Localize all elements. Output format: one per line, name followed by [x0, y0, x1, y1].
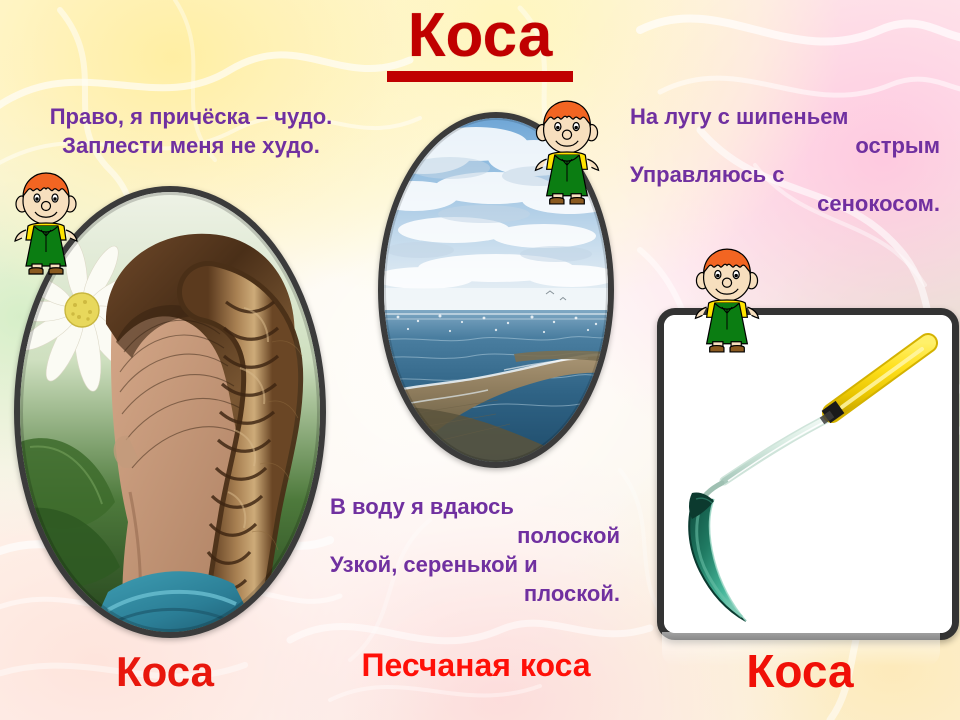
verse-left-line-2: Заплести меня не худо. — [4, 131, 378, 160]
presentation-slide: Коса Право, я причёска – чудо. Заплести … — [0, 0, 960, 720]
verse-middle-line-2: полоской — [330, 521, 620, 550]
verse-right-line-3: Управляюсь с — [630, 160, 940, 189]
page-title: Коса — [0, 4, 960, 67]
slide-title-block: Коса — [0, 4, 960, 82]
verse-middle-line-1: В воду я вдаюсь — [330, 492, 620, 521]
verse-middle-line-3: Узкой, серенькой и — [330, 550, 620, 579]
verse-right-line-1: На лугу с шипеньем — [630, 102, 940, 131]
caption-sand-spit: Песчаная коса — [330, 647, 622, 684]
verse-middle-line-4: плоской. — [330, 579, 620, 608]
verse-right: На лугу с шипеньем острым Управляюсь с с… — [630, 102, 940, 218]
verse-left: Право, я причёска – чудо. Заплести меня … — [4, 102, 378, 160]
cartoon-boy-icon — [688, 244, 766, 356]
verse-right-line-4: сенокосом. — [630, 189, 940, 218]
image-scythe — [657, 308, 959, 640]
verse-middle: В воду я вдаюсь полоской Узкой, серенько… — [330, 492, 620, 608]
title-underline — [387, 71, 573, 82]
cartoon-boy-icon — [8, 168, 84, 278]
verse-right-line-2: острым — [630, 131, 940, 160]
caption-scythe: Коса — [690, 644, 910, 698]
caption-braid: Коса — [60, 648, 270, 696]
verse-left-line-1: Право, я причёска – чудо. — [4, 102, 378, 131]
cartoon-boy-icon — [528, 96, 606, 208]
